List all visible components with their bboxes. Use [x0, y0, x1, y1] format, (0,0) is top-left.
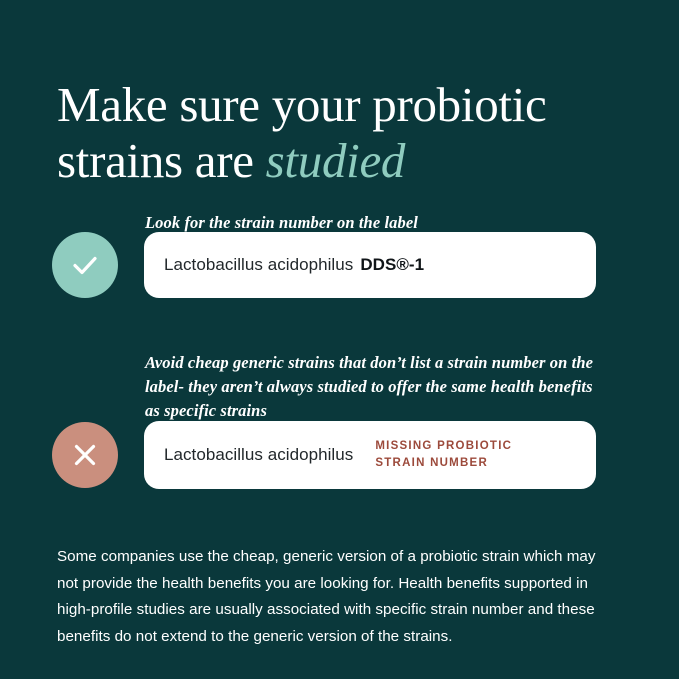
good-example-card: Lactobacillus acidophilus DDS®-1 [144, 232, 596, 298]
missing-note-line-1: Missing probiotic [375, 438, 512, 455]
bad-strain-name: Lactobacillus acidophilus [164, 445, 353, 465]
page-title: Make sure your probiotic strains are stu… [57, 77, 637, 189]
good-example-row: Lactobacillus acidophilus DDS®-1 [52, 232, 596, 298]
headline-line-1: Make sure your probiotic [57, 77, 546, 132]
missing-strain-number-note: Missing probiotic strain number [375, 438, 512, 472]
good-strain-name: Lactobacillus acidophilus [164, 255, 353, 275]
good-strain-code: DDS®-1 [360, 255, 424, 275]
bad-example-caption: Avoid cheap generic strains that don’t l… [145, 351, 600, 423]
check-icon [52, 232, 118, 298]
cross-icon [52, 422, 118, 488]
headline-line-2-prefix: strains are [57, 133, 266, 188]
bad-example-row: Lactobacillus acidophilus Missing probio… [52, 421, 596, 489]
footnote-paragraph: Some companies use the cheap, generic ve… [57, 544, 617, 650]
headline-emphasis-word: studied [266, 133, 405, 188]
good-example-caption: Look for the strain number on the label [145, 211, 615, 235]
missing-note-line-2: strain number [375, 455, 512, 472]
bad-example-card: Lactobacillus acidophilus Missing probio… [144, 421, 596, 489]
infographic-page: Make sure your probiotic strains are stu… [0, 0, 679, 679]
